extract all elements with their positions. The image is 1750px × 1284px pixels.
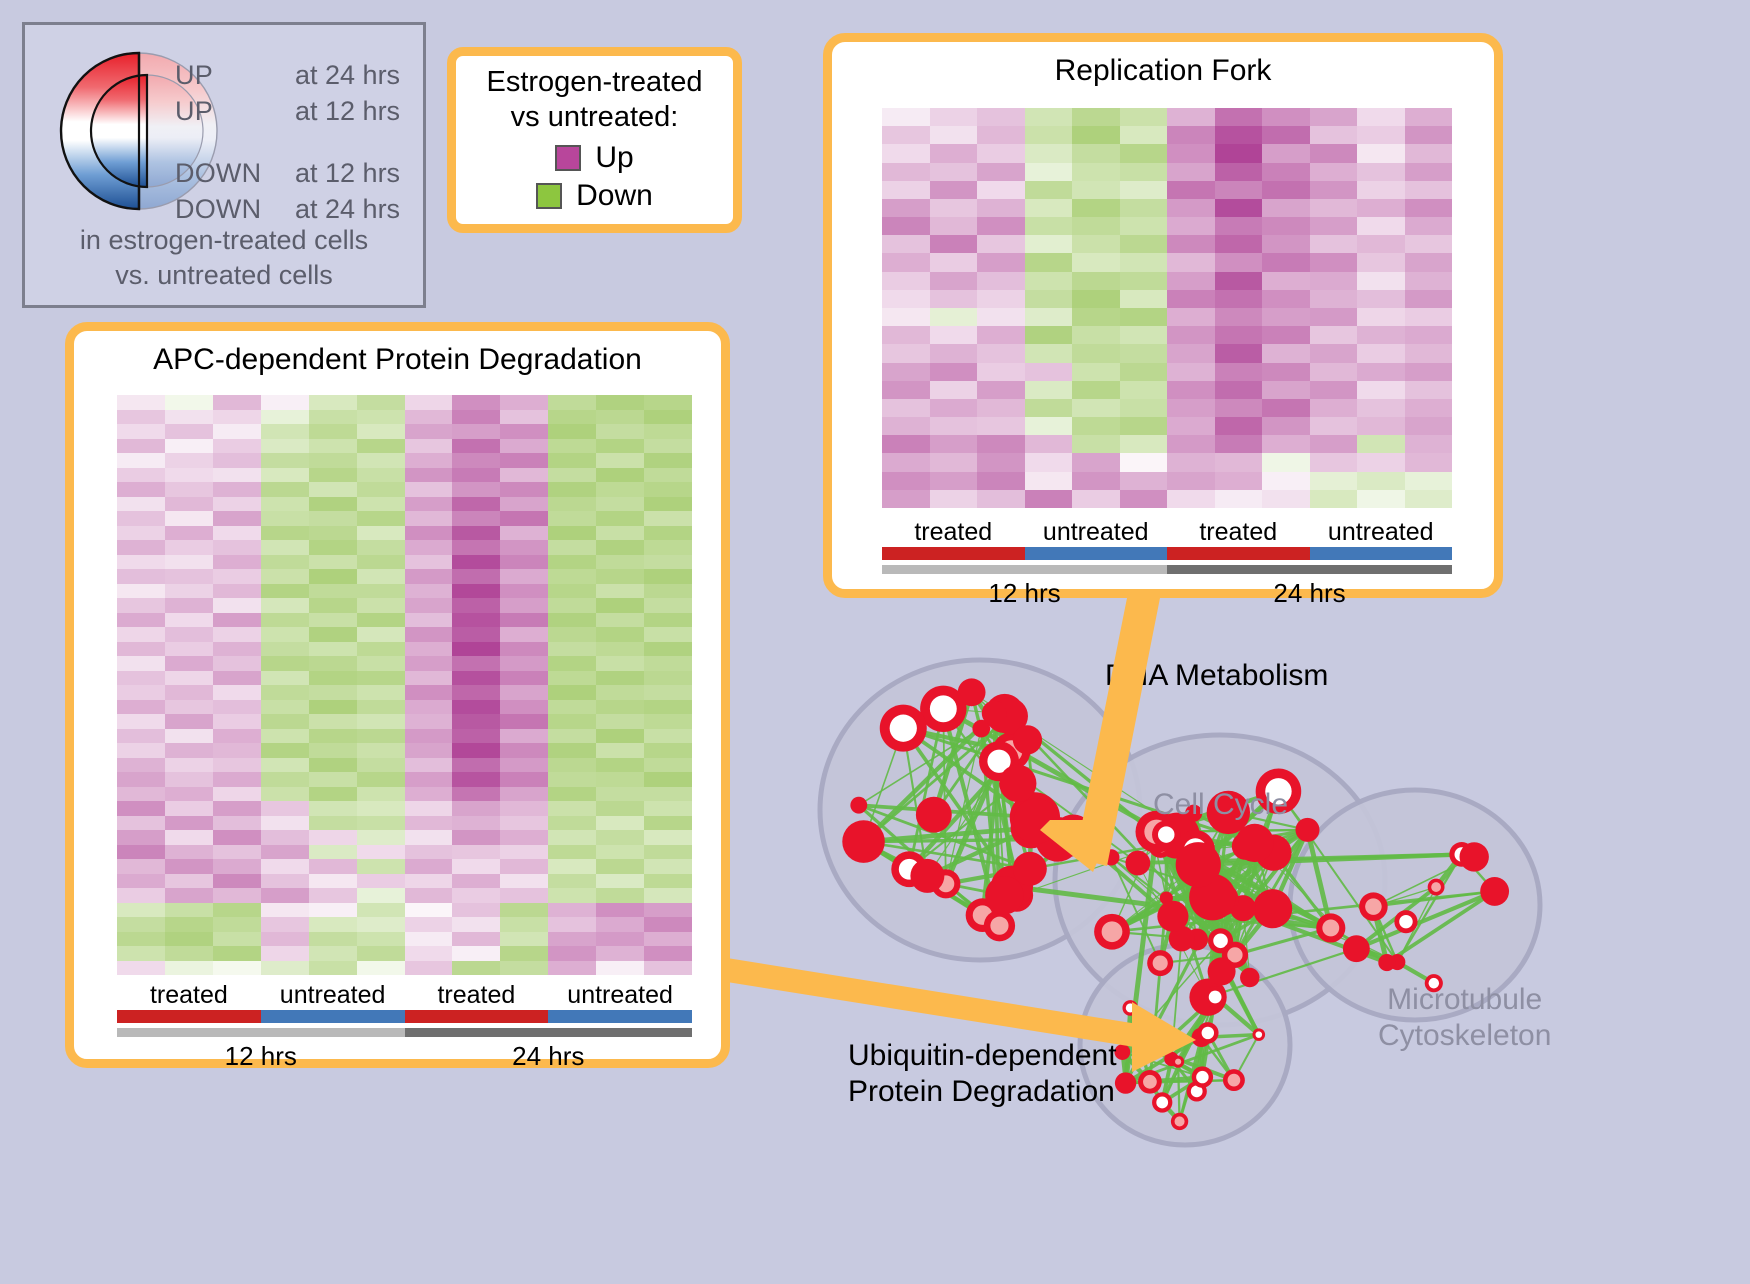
heatmap-cell	[930, 253, 978, 271]
heatmap-cell	[309, 526, 357, 541]
heatmap-cell	[596, 453, 644, 468]
heatmap-cell	[165, 888, 213, 903]
heatmap-cell	[1072, 344, 1120, 362]
heatmap-cell	[644, 613, 692, 628]
heatmap-cell	[405, 816, 453, 831]
network-node-core	[1175, 1059, 1181, 1065]
heatmap-cell	[644, 511, 692, 526]
heatmap-cell	[213, 439, 261, 454]
heatmap-cell	[117, 700, 165, 715]
heatmap-cell	[1310, 363, 1358, 381]
group-labels: treated untreated treated untreated	[117, 981, 692, 1010]
heatmap-cell	[357, 830, 405, 845]
legend-title-line1: Estrogen-treated	[486, 65, 702, 100]
heatmap-cell	[357, 395, 405, 410]
heatmap-cell	[405, 627, 453, 642]
network-node-core	[930, 695, 957, 722]
heatmap-cell	[1025, 472, 1073, 490]
heatmap-cell	[548, 598, 596, 613]
heatmap-cell	[261, 845, 309, 860]
time-label: 12 hrs	[117, 1041, 405, 1072]
heatmap-cell	[930, 308, 978, 326]
heatmap-cell	[644, 671, 692, 686]
network-node-core	[990, 917, 1008, 935]
heatmap-cell	[357, 801, 405, 816]
heatmap-cell	[1025, 217, 1073, 235]
heatmap-cell	[977, 235, 1025, 253]
heatmap-cell	[357, 903, 405, 918]
key-direction-label: DOWN	[175, 194, 295, 225]
heatmap-cell	[548, 946, 596, 961]
heatmap-cell	[165, 801, 213, 816]
group-label: treated	[405, 981, 549, 1010]
network-node-core	[1175, 1116, 1185, 1126]
heatmap-cell	[500, 526, 548, 541]
heatmap-cell	[117, 845, 165, 860]
network-node-core	[1153, 956, 1168, 971]
heatmap-cell	[1120, 435, 1168, 453]
heatmap-cell	[405, 540, 453, 555]
heatmap-cell	[1405, 163, 1453, 181]
network-node	[1014, 798, 1059, 843]
heatmap-cell	[500, 787, 548, 802]
heatmap-cell	[452, 758, 500, 773]
heatmap-cell	[548, 830, 596, 845]
network-node	[1240, 968, 1259, 987]
heatmap-cell	[596, 772, 644, 787]
heatmap-cell	[309, 642, 357, 657]
heatmap-cell	[261, 555, 309, 570]
heatmap-cell	[500, 482, 548, 497]
heatmap-cell	[213, 540, 261, 555]
heatmap-cell	[1262, 435, 1310, 453]
heatmap-cell	[1120, 417, 1168, 435]
heatmap-cell	[452, 439, 500, 454]
heatmap-cell	[596, 642, 644, 657]
network-node	[916, 797, 952, 833]
heatmap-cell	[117, 772, 165, 787]
heatmap-cell	[165, 772, 213, 787]
heatmap-cell	[213, 787, 261, 802]
heatmap-cell	[882, 308, 930, 326]
heatmap-cell	[1025, 144, 1073, 162]
heatmap-cell	[165, 946, 213, 961]
heatmap-cell	[596, 845, 644, 860]
heatmap-cell	[261, 772, 309, 787]
heatmap-cell	[1167, 326, 1215, 344]
heatmap-cell	[452, 540, 500, 555]
heatmap-cell	[309, 816, 357, 831]
heatmap-cell	[165, 729, 213, 744]
heatmap-cell	[452, 482, 500, 497]
group-label: untreated	[548, 981, 692, 1010]
heatmap-cell	[452, 830, 500, 845]
heatmap-cell	[977, 108, 1025, 126]
heatmap-cell	[930, 181, 978, 199]
heatmap-cell	[213, 700, 261, 715]
heatmap-cell	[1310, 490, 1358, 508]
network-node-core	[1126, 1003, 1135, 1012]
time-color-bar	[117, 1028, 692, 1037]
heatmap-cell	[882, 326, 930, 344]
heatmap-cell	[644, 468, 692, 483]
heatmap-cell	[644, 555, 692, 570]
heatmap-cell	[165, 395, 213, 410]
heatmap-cell	[1025, 453, 1073, 471]
heatmap-cell	[977, 217, 1025, 235]
heatmap-cell	[882, 108, 930, 126]
heatmap-cell	[165, 598, 213, 613]
heatmap-cell	[548, 961, 596, 976]
heatmap-cell	[1025, 290, 1073, 308]
heatmap-cell	[548, 642, 596, 657]
heatmap-cell	[261, 859, 309, 874]
heatmap-cell	[596, 801, 644, 816]
heatmap-cell	[644, 685, 692, 700]
heatmap-cell	[261, 598, 309, 613]
heatmap-cell	[1310, 290, 1358, 308]
heatmap-cell	[405, 917, 453, 932]
heatmap-cell	[261, 961, 309, 976]
heatmap-cell	[309, 729, 357, 744]
heatmap-cell	[1120, 453, 1168, 471]
network-node	[1378, 954, 1395, 971]
heatmap-cell	[1215, 326, 1263, 344]
heatmap-cell	[213, 453, 261, 468]
heatmap-cell	[405, 801, 453, 816]
color-bar-segment	[1025, 547, 1168, 560]
heatmap-cell	[977, 344, 1025, 362]
heatmap-cell	[261, 540, 309, 555]
heatmap-cell	[1310, 417, 1358, 435]
heatmap-cell	[117, 801, 165, 816]
network-node	[1236, 824, 1274, 862]
heatmap-cell	[644, 395, 692, 410]
heatmap-cell	[1025, 417, 1073, 435]
heatmap-cell	[357, 642, 405, 657]
heatmap-cell	[1120, 490, 1168, 508]
heatmap-cell	[309, 801, 357, 816]
heatmap-cell	[261, 729, 309, 744]
heatmap-cell	[452, 671, 500, 686]
heatmap-cell	[500, 772, 548, 787]
heatmap-cell	[117, 569, 165, 584]
heatmap-cell	[1215, 290, 1263, 308]
heatmap-cell	[405, 845, 453, 860]
heatmap-cell	[1120, 272, 1168, 290]
heatmap-cell	[548, 511, 596, 526]
heatmap-cell	[405, 468, 453, 483]
heatmap-cell	[977, 417, 1025, 435]
heatmap-cell	[261, 700, 309, 715]
heatmap-cell	[500, 424, 548, 439]
heatmap-cell	[644, 874, 692, 889]
heatmap-cell	[309, 482, 357, 497]
heatmap-cell	[500, 685, 548, 700]
heatmap-cell	[309, 845, 357, 860]
heatmap-cell	[1167, 181, 1215, 199]
heatmap-cell	[405, 874, 453, 889]
heatmap-cell	[596, 961, 644, 976]
heatmap-cell	[405, 932, 453, 947]
heatmap-cell	[644, 627, 692, 642]
heatmap-cell	[357, 685, 405, 700]
up-down-color-legend: Estrogen-treated vs untreated: Up Down	[447, 47, 742, 233]
heatmap-cell	[548, 613, 596, 628]
heatmap-cell	[357, 511, 405, 526]
heatmap-cell	[1167, 417, 1215, 435]
heatmap-cell	[1215, 308, 1263, 326]
heatmap-cell	[117, 497, 165, 512]
heatmap-cell	[500, 540, 548, 555]
heatmap-cell	[1120, 235, 1168, 253]
key-direction-label: UP	[175, 96, 295, 127]
heatmap-cell	[165, 758, 213, 773]
heatmap-cell	[117, 816, 165, 831]
heatmap-cell	[500, 830, 548, 845]
heatmap-cell	[1072, 181, 1120, 199]
heatmap-cell	[1025, 326, 1073, 344]
heatmap-cell	[1262, 253, 1310, 271]
network-node-core	[1228, 1074, 1241, 1087]
heatmap-cell	[309, 671, 357, 686]
heatmap-cell	[977, 308, 1025, 326]
heatmap-cell	[165, 874, 213, 889]
heatmap-cell	[117, 540, 165, 555]
heatmap-cell	[596, 700, 644, 715]
group-label: treated	[1167, 518, 1310, 547]
network-node	[1343, 935, 1370, 962]
heatmap-cell	[500, 917, 548, 932]
heatmap-cell	[357, 569, 405, 584]
heatmap-cell	[309, 410, 357, 425]
heatmap-cell	[500, 511, 548, 526]
heatmap-cell	[644, 526, 692, 541]
heatmap-cell	[977, 126, 1025, 144]
key-footer-line1: in estrogen-treated cells	[25, 223, 423, 258]
key-time-label: at 12 hrs	[295, 158, 400, 189]
heatmap-cell	[1357, 163, 1405, 181]
heatmap-cell	[165, 859, 213, 874]
heatmap-cell	[357, 961, 405, 976]
heatmap-cell	[1120, 144, 1168, 162]
group-label: treated	[882, 518, 1025, 547]
heatmap-cell	[1167, 144, 1215, 162]
heatmap-cell	[261, 482, 309, 497]
heatmap-cell	[165, 787, 213, 802]
network-node-core	[1209, 991, 1222, 1004]
heatmap-cell	[117, 961, 165, 976]
heatmap-cell	[405, 598, 453, 613]
heatmap-cell	[548, 656, 596, 671]
heatmap-cell	[548, 555, 596, 570]
key-time-label: at 24 hrs	[295, 60, 400, 91]
heatmap-cell	[1357, 290, 1405, 308]
heatmap-cell	[548, 787, 596, 802]
heatmap-cell	[1025, 108, 1073, 126]
heatmap-cell	[117, 714, 165, 729]
heatmap-cell	[1262, 199, 1310, 217]
heatmap-cell	[500, 714, 548, 729]
heatmap-cell	[596, 859, 644, 874]
expression-key-legend: UP at 24 hrs UP at 12 hrs DOWN at 12 hrs…	[22, 22, 426, 308]
heatmap-cell	[165, 439, 213, 454]
heatmap-cell	[357, 772, 405, 787]
heatmap-cell	[261, 801, 309, 816]
heatmap-cell	[930, 417, 978, 435]
heatmap-replication-fork	[882, 108, 1452, 508]
heatmap-cell	[452, 772, 500, 787]
heatmap-cell	[357, 845, 405, 860]
heatmap-cell	[500, 874, 548, 889]
heatmap-cell	[1025, 235, 1073, 253]
heatmap-cell	[500, 410, 548, 425]
heatmap-cell	[882, 253, 930, 271]
treatment-color-bar	[882, 547, 1452, 560]
heatmap-cell	[1405, 199, 1453, 217]
heatmap-cell	[452, 642, 500, 657]
network-node	[850, 797, 867, 814]
heatmap-cell	[1262, 163, 1310, 181]
heatmap-cell	[1405, 290, 1453, 308]
heatmap-cell	[548, 410, 596, 425]
heatmap-cell	[213, 511, 261, 526]
network-node	[1176, 842, 1221, 887]
heatmap-cell	[357, 888, 405, 903]
heatmap-cell	[1072, 490, 1120, 508]
time-label: 24 hrs	[1167, 578, 1452, 609]
heatmap-cell	[1262, 472, 1310, 490]
heatmap-cell	[357, 555, 405, 570]
heatmap-cell	[213, 917, 261, 932]
pathway-network-diagram: DNA Metabolism Cell Cycle Microtubule Cy…	[790, 620, 1750, 1279]
heatmap-cell	[1405, 308, 1453, 326]
heatmap-cell	[644, 700, 692, 715]
heatmap-cell	[596, 424, 644, 439]
heatmap-cell	[1167, 472, 1215, 490]
heatmap-cell	[165, 424, 213, 439]
heatmap-cell	[930, 272, 978, 290]
heatmap-cell	[930, 399, 978, 417]
heatmap-cell	[882, 417, 930, 435]
heatmap-cell	[261, 917, 309, 932]
network-node-core	[1156, 1097, 1168, 1109]
heatmap-cell	[644, 772, 692, 787]
heatmap-cell	[644, 497, 692, 512]
heatmap-cell	[1405, 253, 1453, 271]
cluster-label-ubiquitin: Ubiquitin-dependent Protein Degradation	[848, 1038, 1117, 1110]
heatmap-cell	[213, 598, 261, 613]
heatmap-cell	[930, 490, 978, 508]
heatmap-cell	[117, 511, 165, 526]
heatmap-cell	[405, 613, 453, 628]
network-node-core	[1196, 1071, 1208, 1083]
heatmap-cell	[165, 410, 213, 425]
heatmap-cell	[165, 540, 213, 555]
heatmap-cell	[1215, 217, 1263, 235]
heatmap-cell	[357, 497, 405, 512]
heatmap-cell	[882, 472, 930, 490]
heatmap-cell	[644, 816, 692, 831]
heatmap-cell	[405, 772, 453, 787]
heatmap-cell	[500, 439, 548, 454]
heatmap-cell	[405, 729, 453, 744]
heatmap-cell	[1215, 490, 1263, 508]
heatmap-cell	[930, 217, 978, 235]
heatmap-cell	[213, 656, 261, 671]
heatmap-cell	[1310, 126, 1358, 144]
heatmap-cell	[930, 108, 978, 126]
heatmap-cell	[213, 497, 261, 512]
heatmap-cell	[261, 627, 309, 642]
network-node	[1208, 957, 1236, 985]
heatmap-cell	[1072, 163, 1120, 181]
panel-title: Replication Fork	[832, 54, 1494, 88]
heatmap-cell	[117, 729, 165, 744]
heatmap-cell	[117, 526, 165, 541]
heatmap-cell	[548, 888, 596, 903]
heatmap-cell	[213, 830, 261, 845]
heatmap-cell	[452, 569, 500, 584]
heatmap-cell	[1310, 272, 1358, 290]
heatmap-cell	[1405, 363, 1453, 381]
heatmap-cell	[1167, 108, 1215, 126]
heatmap-cell	[1357, 126, 1405, 144]
heatmap-apc-degradation	[117, 395, 692, 975]
heatmap-cell	[644, 917, 692, 932]
heatmap-cell	[977, 381, 1025, 399]
heatmap-cell	[1215, 344, 1263, 362]
color-bar-segment	[117, 1028, 405, 1037]
heatmap-cell	[1215, 472, 1263, 490]
heatmap-cell	[1405, 235, 1453, 253]
heatmap-cell	[977, 144, 1025, 162]
heatmap-cell	[405, 946, 453, 961]
heatmap-cell	[357, 874, 405, 889]
panel-apc-degradation: APC-dependent Protein Degradation treate…	[65, 322, 730, 1068]
heatmap-cell	[165, 816, 213, 831]
heatmap-cell	[644, 482, 692, 497]
heatmap-cell	[213, 874, 261, 889]
heatmap-cell	[261, 410, 309, 425]
heatmap-cell	[1072, 381, 1120, 399]
heatmap-cell	[1405, 435, 1453, 453]
legend-title-line2: vs untreated:	[486, 100, 702, 135]
heatmap-cell	[1215, 272, 1263, 290]
heatmap-cell	[452, 453, 500, 468]
heatmap-cell	[452, 700, 500, 715]
heatmap-cell	[213, 627, 261, 642]
network-node	[1013, 852, 1047, 886]
heatmap-cell	[261, 888, 309, 903]
heatmap-cell	[1167, 272, 1215, 290]
heatmap-cell	[1215, 399, 1263, 417]
heatmap-cell	[1120, 381, 1168, 399]
heatmap-cell	[213, 424, 261, 439]
heatmap-cell	[1405, 181, 1453, 199]
heatmap-cell	[930, 163, 978, 181]
heatmap-cell	[596, 758, 644, 773]
heatmap-cell	[596, 946, 644, 961]
heatmap-cell	[357, 859, 405, 874]
key-footer: in estrogen-treated cells vs. untreated …	[25, 223, 423, 292]
heatmap-cell	[405, 685, 453, 700]
heatmap-cell	[500, 845, 548, 860]
heatmap-cell	[596, 787, 644, 802]
heatmap-cell	[500, 453, 548, 468]
heatmap-cell	[165, 656, 213, 671]
heatmap-cell	[1357, 308, 1405, 326]
